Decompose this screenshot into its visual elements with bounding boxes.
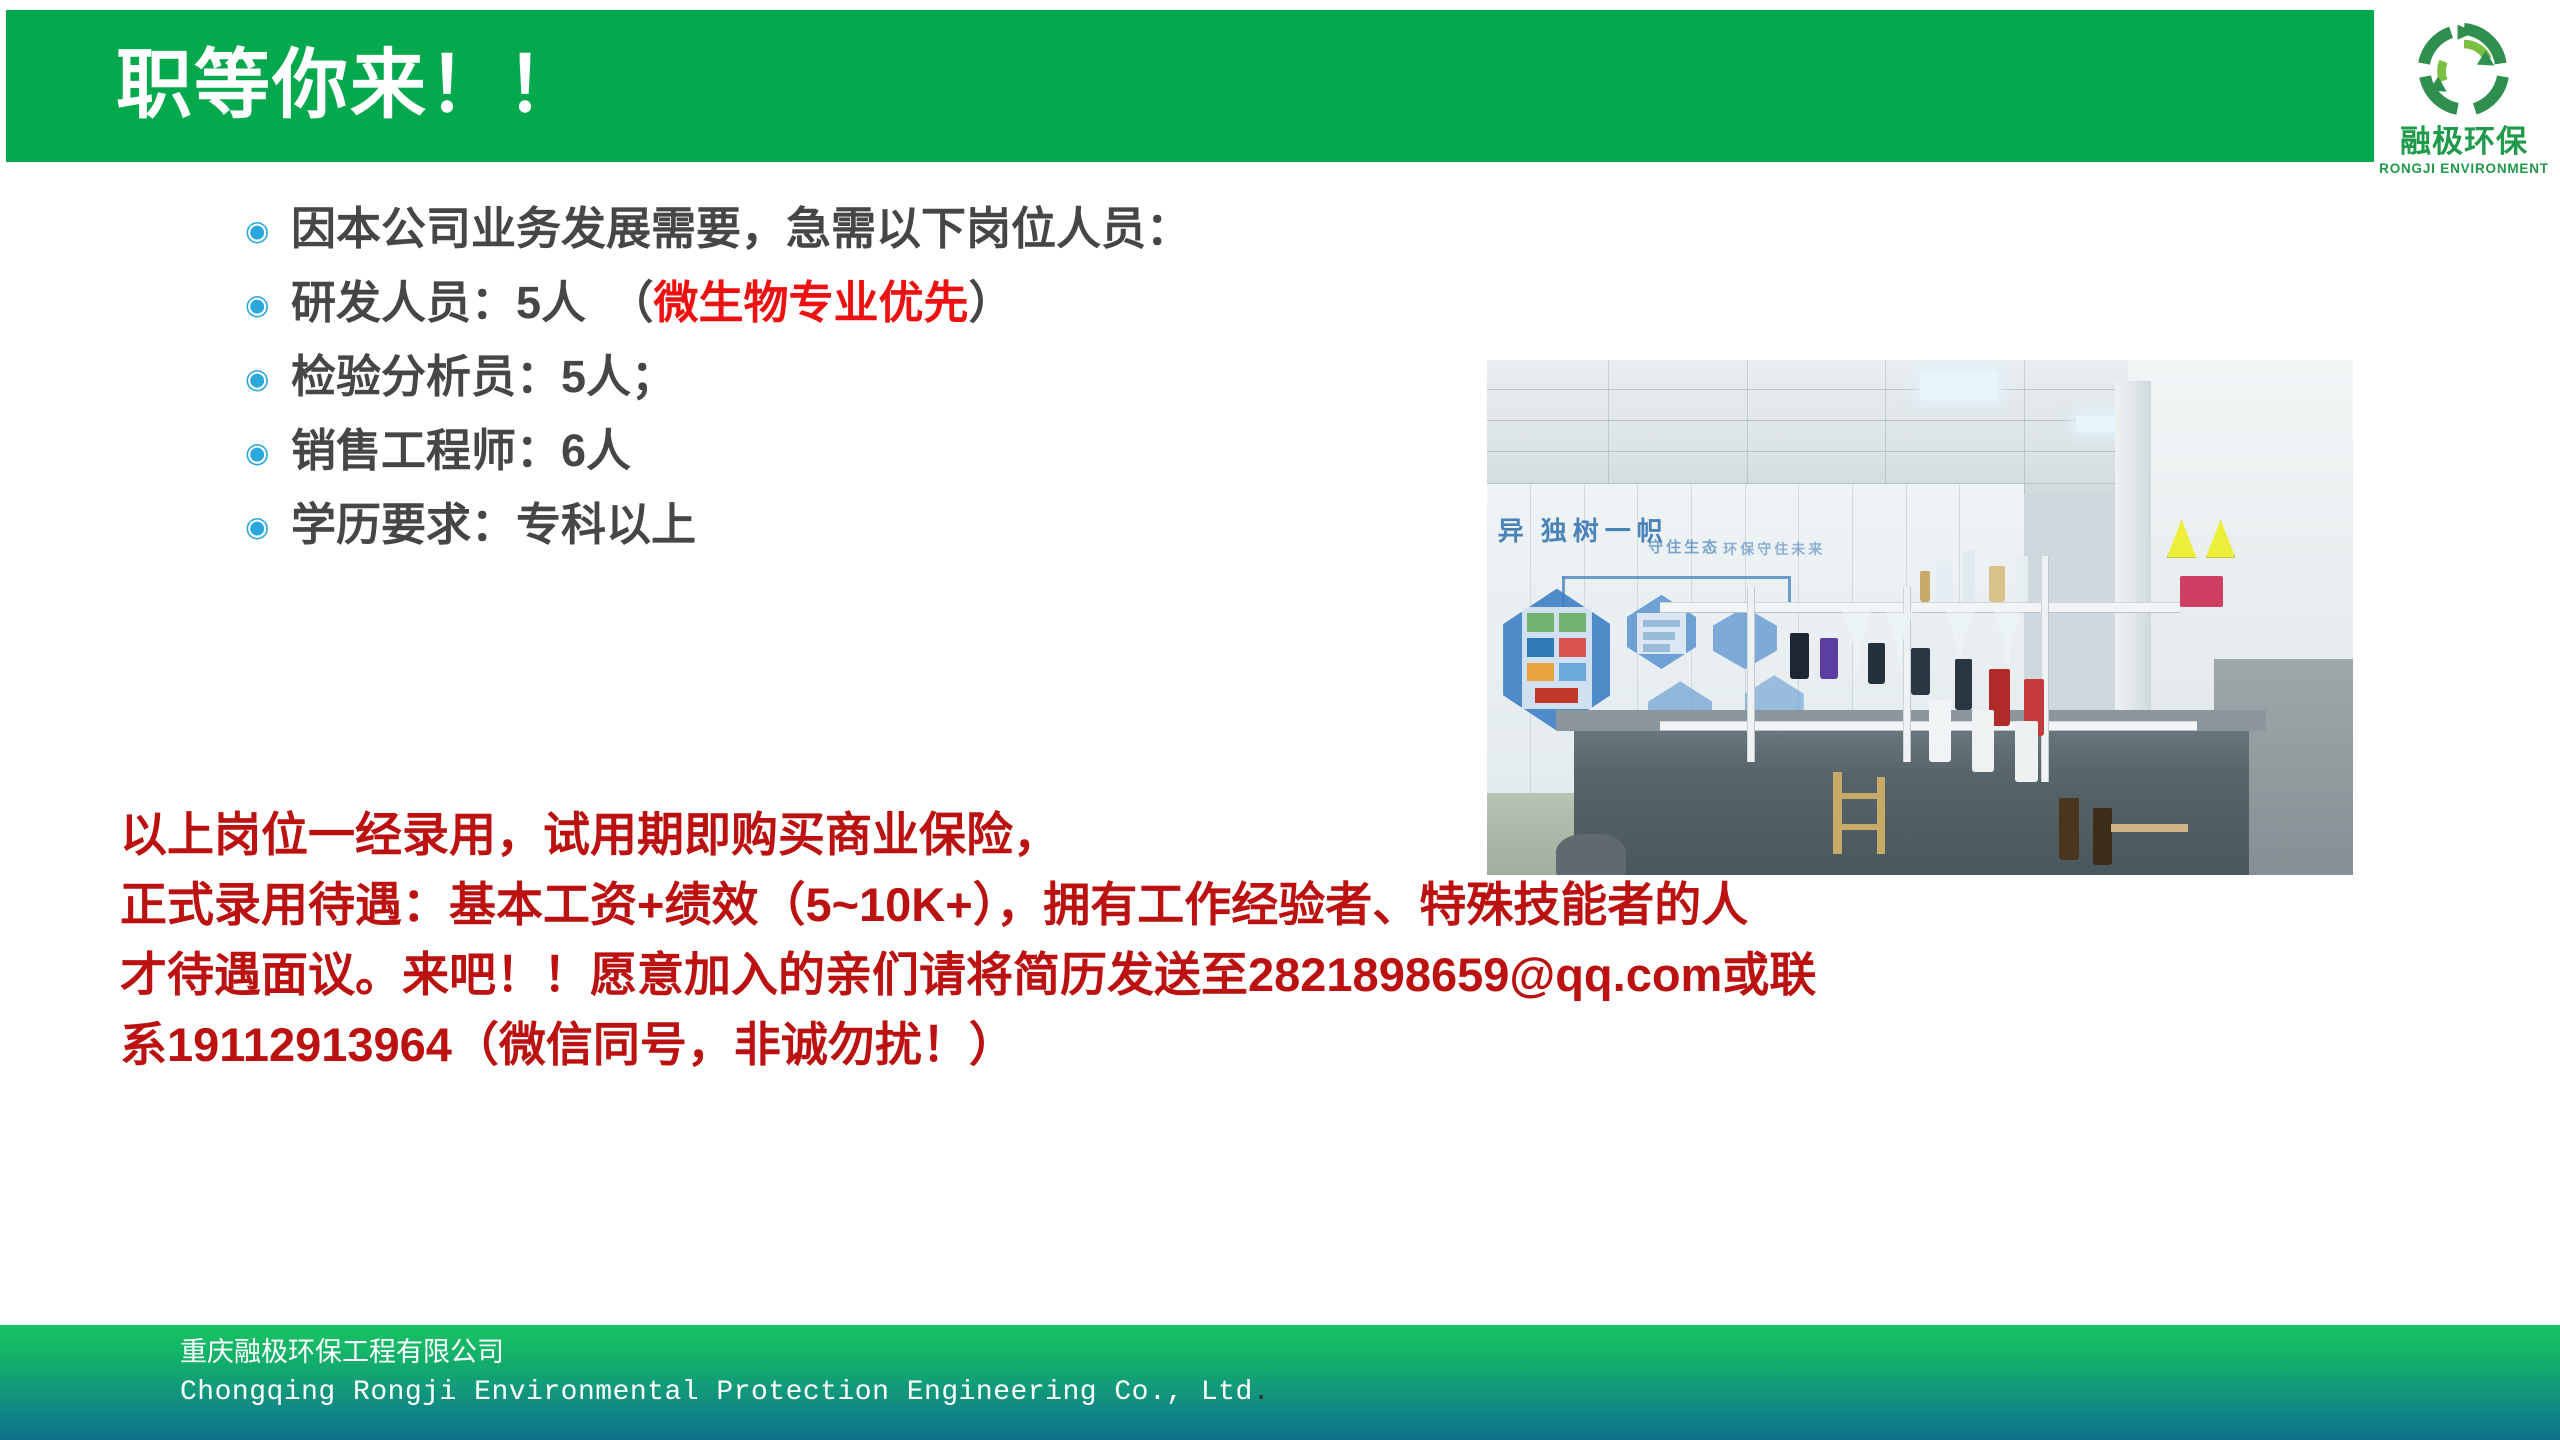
- bullet-dot-icon: ◉: [245, 513, 291, 541]
- bullet-item-intro: 因本公司业务发展需要，急需以下岗位人员：: [291, 205, 1545, 252]
- notice-line-1: 以上岗位一经录用，试用期即购买商业保险，: [120, 800, 2460, 870]
- list-item: ◉ 销售工程师：6人: [245, 427, 1545, 499]
- bullet-item-rd: 研发人员：5人 （微生物专业优先）: [291, 279, 1545, 326]
- rd-label: 研发人员：5人 （: [291, 277, 654, 328]
- list-item: ◉ 研发人员：5人 （微生物专业优先）: [245, 279, 1545, 351]
- bullet-item-sales: 销售工程师：6人: [291, 427, 1545, 474]
- notice-line-2: 正式录用待遇：基本工资+绩效（5~10K+），拥有工作经验者、特殊技能者的人: [120, 870, 2460, 940]
- footer-company-en: Chongqing Rongji Environmental Protectio…: [180, 1379, 1270, 1407]
- bullet-dot-icon: ◉: [245, 217, 291, 245]
- photo-shelf-post: [1747, 587, 1755, 762]
- footer-company-cn: 重庆融极环保工程有限公司: [180, 1339, 504, 1366]
- recruitment-notice: 以上岗位一经录用，试用期即购买商业保险， 正式录用待遇：基本工资+绩效（5~10…: [120, 800, 2460, 1080]
- list-item: ◉ 学历要求：专科以上: [245, 501, 1545, 573]
- list-item: ◉ 检验分析员：5人；: [245, 353, 1545, 425]
- photo-shelf-rail: [1660, 602, 2180, 613]
- logo-company-cn: 融极环保: [2400, 126, 2528, 157]
- list-item: ◉ 因本公司业务发展需要，急需以下岗位人员：: [245, 205, 1545, 277]
- bullet-dot-icon: ◉: [245, 291, 291, 319]
- page-title: 职等你来！！: [116, 48, 584, 124]
- title-banner: 职等你来！！: [6, 10, 2386, 162]
- footer-company-en-dot: .: [1253, 1377, 1270, 1408]
- photo-shelf-post: [2041, 556, 2049, 783]
- rd-highlight: 微生物专业优先: [654, 277, 969, 328]
- notice-line-3: 才待遇面议。来吧！！愿意加入的亲们请将简历发送至2821898659@qq.co…: [120, 940, 2460, 1010]
- bullet-dot-icon: ◉: [245, 439, 291, 467]
- footer-bar: 重庆融极环保工程有限公司 Chongqing Rongji Environmen…: [0, 1325, 2560, 1440]
- wall-slogan-3: 守住生态: [1648, 536, 1720, 557]
- slide-canvas: 职等你来！！ 融极环保 RONGJI ENVIRONMENT: [0, 0, 2560, 1440]
- rd-tail: ）: [969, 277, 1014, 328]
- footer-company-en-text: Chongqing Rongji Environmental Protectio…: [180, 1377, 1253, 1408]
- bullet-dot-icon: ◉: [245, 365, 291, 393]
- logo-company-en: RONGJI ENVIRONMENT: [2379, 162, 2549, 176]
- bullet-item-analyst: 检验分析员：5人；: [291, 353, 1545, 400]
- bullet-item-education: 学历要求：专科以上: [291, 501, 1545, 548]
- job-bullet-list: ◉ 因本公司业务发展需要，急需以下岗位人员： ◉ 研发人员：5人 （微生物专业优…: [245, 205, 1545, 575]
- laboratory-team-photo: 异 独树一帜 守住生态 环保守住未来: [1487, 360, 2353, 875]
- wall-slogan-1: 异: [1498, 511, 1524, 548]
- company-logo: 融极环保 RONGJI ENVIRONMENT: [2374, 8, 2554, 208]
- wall-slogan-4: 环保守住未来: [1723, 539, 1825, 559]
- notice-line-4: 系19112913964（微信同号，非诚勿扰！）: [120, 1010, 2460, 1080]
- photo-content: 异 独树一帜 守住生态 环保守住未来: [1487, 360, 2353, 875]
- recycle-circle-icon: [2410, 16, 2518, 124]
